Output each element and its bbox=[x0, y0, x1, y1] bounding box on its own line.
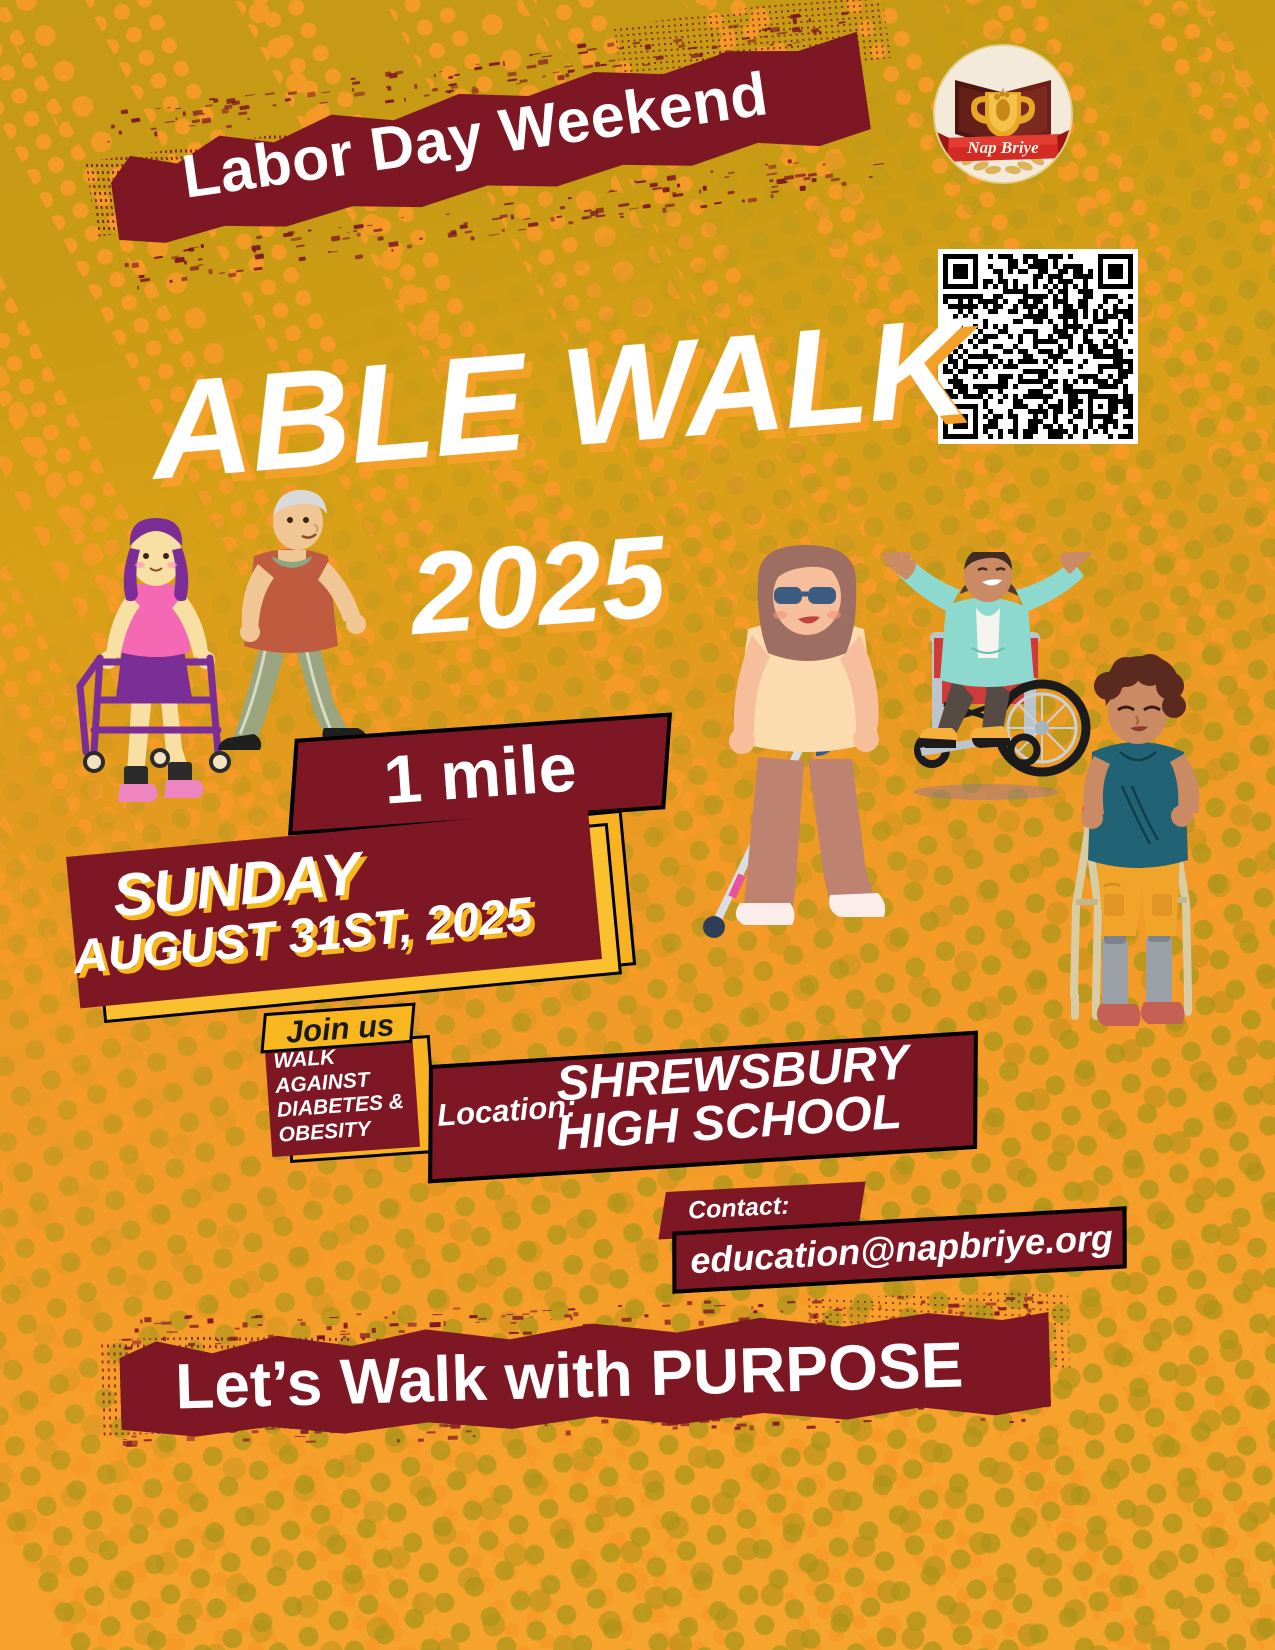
brush-speck bbox=[118, 130, 122, 135]
brush-speck bbox=[252, 1430, 259, 1433]
brush-speck bbox=[528, 222, 538, 227]
brush-speck bbox=[226, 125, 232, 128]
brush-speck bbox=[154, 131, 158, 136]
brush-speck bbox=[991, 1321, 1001, 1326]
brush-speck bbox=[360, 1333, 371, 1338]
brush-speck bbox=[710, 170, 713, 172]
brush-speck bbox=[448, 232, 457, 238]
brush-speck bbox=[144, 1439, 152, 1442]
brush-speck bbox=[307, 229, 311, 232]
brush-speck bbox=[552, 71, 559, 73]
brush-speck bbox=[243, 1439, 250, 1442]
brush-speck bbox=[808, 173, 817, 177]
brush-speck bbox=[523, 1331, 532, 1334]
brush-speck bbox=[714, 1410, 723, 1414]
brush-speck bbox=[748, 197, 757, 203]
brush-speck bbox=[221, 108, 228, 113]
brush-speck bbox=[799, 186, 806, 192]
brush-speck bbox=[296, 244, 305, 248]
brush-speck bbox=[215, 1343, 222, 1345]
brush-speck bbox=[175, 107, 181, 109]
brush-speck bbox=[643, 204, 651, 209]
brush-speck bbox=[183, 111, 186, 116]
brush-speck bbox=[751, 1410, 759, 1413]
brush-speck bbox=[230, 1429, 236, 1433]
brush-speck bbox=[343, 1323, 347, 1328]
brush-speck bbox=[948, 1309, 953, 1314]
brush-speck bbox=[376, 1338, 381, 1341]
brush-speck bbox=[479, 1317, 487, 1319]
brush-speck bbox=[788, 159, 792, 164]
tagline-banner: Let’s Walk with PURPOSE bbox=[118, 1285, 1052, 1459]
brush-speck bbox=[136, 286, 139, 290]
brush-speck bbox=[154, 1323, 163, 1324]
brush-speck bbox=[976, 1401, 983, 1402]
brush-speck bbox=[305, 1440, 315, 1443]
brush-speck bbox=[307, 92, 316, 98]
brush-speck bbox=[618, 1305, 622, 1308]
brush-speck bbox=[350, 77, 355, 80]
brush-speck bbox=[530, 52, 541, 55]
brush-speck bbox=[342, 237, 350, 240]
brush-speck bbox=[340, 1333, 349, 1335]
brush-speck bbox=[511, 1322, 517, 1324]
brush-speck bbox=[185, 1315, 192, 1318]
brush-speck bbox=[502, 229, 505, 232]
brush-speck bbox=[430, 1322, 441, 1327]
brush-speck bbox=[245, 94, 255, 96]
brush-speck bbox=[470, 1315, 477, 1318]
brush-speck bbox=[464, 231, 472, 234]
brush-speck bbox=[439, 71, 442, 73]
brush-speck bbox=[581, 1405, 591, 1410]
brush-speck bbox=[530, 1310, 537, 1312]
brush-speck bbox=[154, 255, 164, 259]
brush-speck bbox=[1006, 1297, 1016, 1300]
brush-speck bbox=[687, 1301, 692, 1305]
brush-speck bbox=[753, 1310, 758, 1313]
brush-speck bbox=[872, 1305, 875, 1307]
brush-speck bbox=[163, 1336, 167, 1340]
brush-speck bbox=[612, 1325, 617, 1328]
brush-speck bbox=[446, 213, 450, 215]
brush-speck bbox=[703, 1309, 714, 1313]
brush-speck bbox=[124, 263, 128, 267]
brush-speck bbox=[283, 232, 293, 238]
brush-speck bbox=[620, 1417, 625, 1419]
brush-speck bbox=[175, 117, 177, 121]
brush-speck bbox=[543, 1310, 552, 1312]
brush-speck bbox=[773, 1421, 780, 1425]
brush-speck bbox=[742, 199, 746, 202]
brush-speck bbox=[372, 1328, 376, 1333]
brush-speck bbox=[451, 83, 458, 89]
brush-speck bbox=[629, 207, 639, 210]
brush-speck bbox=[780, 1311, 783, 1313]
brush-speck bbox=[205, 104, 213, 107]
brush-speck bbox=[471, 88, 479, 94]
brush-speck bbox=[760, 1409, 766, 1410]
brush-speck bbox=[949, 1304, 959, 1308]
brush-speck bbox=[805, 1403, 808, 1408]
brush-speck bbox=[423, 94, 429, 96]
brush-speck bbox=[326, 1326, 331, 1331]
brush-speck bbox=[156, 108, 161, 110]
brush-speck bbox=[399, 1330, 405, 1333]
brush-speck bbox=[515, 82, 520, 84]
brush-speck bbox=[166, 1412, 169, 1413]
brush-speck bbox=[460, 224, 468, 228]
brush-speck bbox=[432, 88, 438, 92]
brush-speck bbox=[213, 98, 218, 103]
brush-speck bbox=[771, 186, 778, 189]
brush-speck bbox=[728, 191, 734, 194]
brush-speck bbox=[819, 30, 822, 35]
brush-speck bbox=[810, 1313, 818, 1318]
brush-speck bbox=[651, 1420, 655, 1423]
brush-speck bbox=[476, 63, 480, 65]
brush-speck bbox=[288, 91, 296, 94]
brush-speck bbox=[1010, 1421, 1014, 1423]
brush-speck bbox=[256, 1341, 265, 1343]
brush-speck bbox=[319, 102, 327, 104]
brush-speck bbox=[433, 1314, 442, 1315]
brush-speck bbox=[918, 1406, 924, 1409]
brush-speck bbox=[338, 227, 342, 229]
brush-speck bbox=[1026, 1313, 1030, 1318]
brush-speck bbox=[256, 235, 262, 239]
brush-speck bbox=[582, 1324, 591, 1326]
brush-speck bbox=[557, 216, 563, 219]
brush-speck bbox=[770, 194, 774, 199]
brush-speck bbox=[523, 217, 531, 219]
brush-speck bbox=[447, 1436, 457, 1440]
brush-speck bbox=[352, 88, 355, 92]
brush-speck bbox=[231, 100, 240, 106]
brush-speck bbox=[318, 1415, 328, 1417]
brush-speck bbox=[567, 197, 571, 199]
brush-speck bbox=[568, 1412, 577, 1416]
brush-speck bbox=[347, 232, 349, 234]
brush-speck bbox=[618, 203, 629, 208]
brush-speck bbox=[258, 1324, 263, 1326]
brush-speck bbox=[587, 47, 597, 50]
brush-speck bbox=[253, 266, 263, 271]
brush-speck bbox=[733, 1401, 735, 1405]
brush-speck bbox=[507, 72, 516, 77]
brush-speck bbox=[583, 64, 594, 68]
logo-ribbon-text: Nap Briye bbox=[966, 138, 1039, 157]
brush-speck bbox=[663, 187, 670, 193]
brush-speck bbox=[793, 20, 797, 25]
brush-speck bbox=[466, 1431, 472, 1433]
brush-speck bbox=[144, 1317, 151, 1322]
brush-speck bbox=[711, 1426, 717, 1429]
brush-speck bbox=[453, 1308, 460, 1310]
brush-speck bbox=[397, 1439, 399, 1442]
brush-speck bbox=[985, 1303, 996, 1306]
brush-speck bbox=[251, 1316, 258, 1318]
brush-speck bbox=[1023, 1304, 1028, 1308]
brush-speck bbox=[197, 258, 203, 260]
brush-speck bbox=[377, 236, 383, 241]
brush-speck bbox=[565, 1314, 572, 1317]
brush-speck bbox=[384, 1316, 388, 1318]
brush-speck bbox=[727, 171, 734, 174]
brush-speck bbox=[666, 175, 675, 181]
brush-speck bbox=[143, 1416, 147, 1421]
brush-speck bbox=[166, 107, 171, 109]
brush-speck bbox=[489, 233, 500, 236]
brush-speck bbox=[189, 265, 199, 270]
brush-speck bbox=[208, 269, 213, 275]
brush-speck bbox=[883, 1407, 894, 1410]
brush-speck bbox=[649, 182, 657, 187]
brush-speck bbox=[798, 1322, 801, 1326]
brush-speck bbox=[159, 1425, 167, 1429]
brush-speck bbox=[1021, 1418, 1025, 1422]
brush-speck bbox=[665, 1319, 671, 1324]
brush-speck bbox=[501, 1315, 506, 1317]
brush-speck bbox=[453, 74, 459, 77]
brush-speck bbox=[264, 92, 275, 95]
brush-speck bbox=[664, 203, 675, 208]
brush-speck bbox=[298, 257, 306, 262]
brush-speck bbox=[690, 1411, 693, 1416]
brush-speck bbox=[448, 91, 452, 93]
brush-speck bbox=[427, 1431, 436, 1433]
brush-speck bbox=[573, 1313, 578, 1317]
brush-speck bbox=[407, 244, 413, 249]
brush-speck bbox=[883, 1322, 887, 1325]
brush-speck bbox=[229, 1336, 238, 1341]
brush-speck bbox=[188, 1343, 196, 1346]
brush-speck bbox=[653, 1331, 657, 1334]
brush-speck bbox=[541, 55, 552, 58]
brush-speck bbox=[551, 217, 556, 222]
brush-speck bbox=[803, 1399, 807, 1401]
brush-speck bbox=[169, 279, 173, 283]
brush-speck bbox=[541, 1409, 550, 1413]
brush-speck bbox=[542, 75, 547, 78]
brush-speck bbox=[352, 81, 360, 85]
brush-speck bbox=[297, 1421, 299, 1425]
brush-speck bbox=[373, 229, 382, 233]
brush-speck bbox=[651, 1414, 660, 1419]
brush-speck bbox=[652, 187, 663, 190]
brush-speck bbox=[768, 26, 771, 30]
brush-speck bbox=[1030, 1393, 1035, 1398]
brush-speck bbox=[448, 75, 454, 79]
brush-speck bbox=[771, 191, 779, 194]
brush-speck bbox=[355, 254, 363, 259]
brush-speck bbox=[811, 178, 815, 182]
brush-speck bbox=[1044, 1403, 1050, 1408]
brush-speck bbox=[331, 236, 341, 242]
brush-speck bbox=[554, 1407, 561, 1412]
brush-speck bbox=[698, 189, 701, 194]
brush-speck bbox=[517, 228, 526, 231]
brush-speck bbox=[673, 193, 683, 197]
brush-speck bbox=[971, 1406, 981, 1408]
brush-speck bbox=[132, 262, 139, 268]
brush-speck bbox=[328, 251, 331, 253]
brush-speck bbox=[488, 62, 499, 66]
brush-speck bbox=[1037, 1301, 1043, 1304]
brush-speck bbox=[403, 1406, 411, 1411]
brush-speck bbox=[768, 164, 777, 169]
brush-speck bbox=[272, 104, 276, 107]
brush-speck bbox=[389, 241, 399, 247]
brush-speck bbox=[632, 1408, 637, 1413]
brush-speck bbox=[699, 1321, 705, 1326]
brush-speck bbox=[329, 1317, 338, 1318]
brush-speck bbox=[770, 179, 774, 182]
brush-speck bbox=[340, 1330, 346, 1332]
brush-speck bbox=[295, 1435, 305, 1436]
brush-speck bbox=[813, 1395, 822, 1399]
brush-speck bbox=[326, 1419, 333, 1422]
brush-speck bbox=[600, 63, 607, 66]
brush-speck bbox=[988, 1293, 991, 1296]
brush-speck bbox=[814, 31, 817, 36]
brush-speck bbox=[238, 111, 247, 116]
brush-speck bbox=[269, 1341, 279, 1344]
brush-speck bbox=[390, 1323, 399, 1326]
brush-speck bbox=[332, 1429, 342, 1432]
brush-speck bbox=[484, 1417, 491, 1419]
brush-speck bbox=[291, 237, 302, 241]
brush-speck bbox=[356, 1313, 362, 1315]
brush-speck bbox=[793, 162, 798, 164]
brush-speck bbox=[677, 183, 680, 187]
nap-briye-logo: Nap Briye bbox=[935, 46, 1071, 182]
brush-speck bbox=[835, 1420, 839, 1422]
brush-speck bbox=[787, 1301, 794, 1303]
brush-speck bbox=[288, 1416, 291, 1418]
brush-speck bbox=[897, 1297, 904, 1299]
brush-speck bbox=[248, 118, 251, 120]
brush-speck bbox=[564, 65, 573, 68]
brush-speck bbox=[909, 1316, 912, 1320]
brush-speck bbox=[672, 1426, 677, 1429]
brush-speck bbox=[389, 73, 398, 79]
brush-speck bbox=[462, 1416, 472, 1419]
brush-speck bbox=[184, 1422, 187, 1426]
brush-speck bbox=[414, 84, 418, 89]
brush-speck bbox=[569, 1308, 576, 1310]
brush-speck bbox=[302, 1414, 308, 1417]
brush-speck bbox=[172, 1422, 180, 1427]
brush-speck bbox=[132, 1340, 141, 1345]
brush-speck bbox=[565, 72, 570, 77]
brush-speck bbox=[778, 1402, 782, 1405]
brush-speck bbox=[710, 1416, 713, 1420]
brush-speck bbox=[879, 1305, 882, 1310]
brush-speck bbox=[192, 110, 203, 116]
brush-speck bbox=[387, 87, 391, 91]
brush-speck bbox=[750, 1425, 754, 1430]
brush-speck bbox=[739, 1407, 749, 1412]
brush-speck bbox=[959, 1311, 963, 1316]
brush-speck bbox=[503, 202, 514, 205]
brush-speck bbox=[451, 1424, 461, 1429]
brush-speck bbox=[318, 1419, 325, 1424]
brush-speck bbox=[859, 1400, 867, 1402]
brush-speck bbox=[507, 78, 517, 82]
brush-speck bbox=[530, 1316, 534, 1318]
brush-speck bbox=[401, 1416, 410, 1418]
brush-speck bbox=[122, 1338, 131, 1341]
brush-speck bbox=[317, 1335, 325, 1340]
brush-speck bbox=[396, 1338, 400, 1339]
brush-speck bbox=[921, 1301, 925, 1304]
brush-speck bbox=[366, 224, 372, 226]
brush-speck bbox=[285, 98, 292, 101]
brush-speck bbox=[700, 204, 707, 209]
brush-speck bbox=[834, 1309, 842, 1311]
brush-speck bbox=[127, 1440, 138, 1445]
brush-speck bbox=[274, 1418, 279, 1420]
brush-speck bbox=[565, 1431, 571, 1436]
brush-speck bbox=[550, 1319, 552, 1320]
brush-speck bbox=[821, 1409, 829, 1411]
brush-speck bbox=[400, 217, 404, 219]
brush-speck bbox=[702, 186, 706, 191]
brush-speck bbox=[676, 1420, 679, 1422]
brush-speck bbox=[623, 1400, 627, 1402]
brush-speck bbox=[578, 51, 588, 54]
brush-speck bbox=[167, 1331, 178, 1333]
brush-speck bbox=[825, 173, 834, 178]
brush-speck bbox=[315, 1416, 318, 1419]
brush-speck bbox=[538, 59, 548, 65]
brush-speck bbox=[267, 1335, 273, 1337]
brush-speck bbox=[184, 261, 188, 265]
brush-speck bbox=[737, 1424, 747, 1427]
brush-speck bbox=[131, 118, 141, 123]
brush-speck bbox=[582, 215, 592, 219]
brush-speck bbox=[535, 1335, 543, 1338]
brush-speck bbox=[869, 176, 873, 179]
brush-speck bbox=[255, 253, 264, 259]
brush-speck bbox=[502, 61, 505, 66]
brush-speck bbox=[669, 1406, 677, 1411]
brush-speck bbox=[353, 224, 364, 229]
brush-speck bbox=[407, 1322, 416, 1326]
brush-speck bbox=[190, 1325, 198, 1328]
brush-speck bbox=[544, 1424, 547, 1427]
brush-speck bbox=[662, 1423, 671, 1426]
brush-speck bbox=[434, 74, 437, 77]
brush-speck bbox=[134, 1328, 138, 1332]
brush-speck bbox=[208, 1318, 214, 1323]
brush-speck bbox=[977, 1396, 985, 1398]
brush-speck bbox=[751, 1306, 754, 1309]
brush-speck bbox=[863, 1420, 872, 1422]
brush-speck bbox=[325, 1425, 329, 1427]
brush-speck bbox=[655, 1402, 658, 1407]
able-walk-flyer: Labor Day Weekend bbox=[0, 0, 1275, 1650]
brush-speck bbox=[620, 216, 625, 218]
brush-speck bbox=[134, 1424, 143, 1429]
brush-speck bbox=[107, 141, 110, 142]
brush-speck bbox=[351, 1420, 360, 1422]
brush-speck bbox=[831, 178, 840, 182]
brush-speck bbox=[301, 1430, 309, 1434]
brush-speck bbox=[622, 1318, 632, 1323]
brush-speck bbox=[470, 236, 475, 241]
